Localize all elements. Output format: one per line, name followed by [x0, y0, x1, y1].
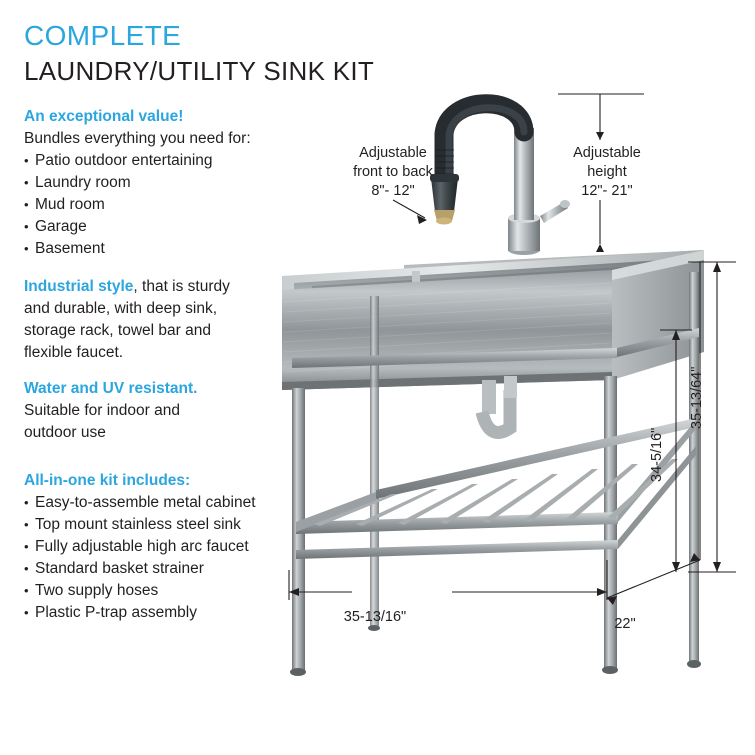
page-root: COMPLETE LAUNDRY/UTILITY SINK KIT An exc… — [0, 0, 755, 755]
dim-width: 35-13/16" — [310, 608, 440, 627]
sink-basin — [282, 250, 704, 390]
storage-rack — [296, 418, 696, 559]
page-title: LAUNDRY/UTILITY SINK KIT — [24, 56, 374, 87]
dim-depth: 22" — [595, 615, 655, 634]
dim-adjustable-height: Adjustable height 12"- 21" — [549, 144, 665, 201]
arrow-overall-bottom — [713, 562, 721, 572]
dim-counter-height: 34-5/16" — [648, 400, 667, 510]
dim-front-to-back: Adjustable front to back 8"- 12" — [331, 144, 455, 201]
style-heading-tail: , that is sturdy — [133, 278, 229, 295]
dim-overall-height: 35-13/64" — [688, 343, 707, 453]
page-eyebrow: COMPLETE — [24, 20, 181, 52]
p-trap-assembly — [482, 376, 517, 432]
style-heading: Industrial style — [24, 278, 133, 295]
arrow-overall-top — [713, 262, 721, 272]
